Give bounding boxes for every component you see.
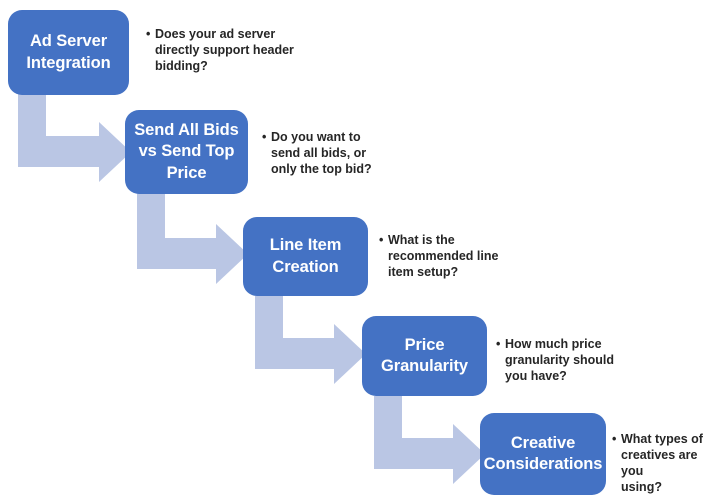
stage-label-line-item-creation: Line Item Creation xyxy=(270,235,342,278)
stage-label-ad-server-integration: Ad Server Integration xyxy=(26,31,110,74)
stage-box-send-all-bids-vs-send-top-price[interactable]: Send All Bids vs Send Top Price xyxy=(125,110,248,194)
connector-3-arrow xyxy=(255,296,366,384)
note-price-granularity: • How much price granularity should you … xyxy=(496,336,630,384)
stage-box-creative-considerations[interactable]: Creative Considerations xyxy=(480,413,606,495)
stage-box-price-granularity[interactable]: Price Granularity xyxy=(362,316,487,396)
stage-box-ad-server-integration[interactable]: Ad Server Integration xyxy=(8,10,129,95)
bullet-icon: • xyxy=(262,129,271,145)
stage-box-line-item-creation[interactable]: Line Item Creation xyxy=(243,217,368,296)
bullet-icon: • xyxy=(496,336,505,352)
connector-4-arrow xyxy=(374,396,485,484)
note-send-all-bids-vs-send-top-price: • Do you want to send all bids, or only … xyxy=(262,129,392,177)
stage-label-creative-considerations: Creative Considerations xyxy=(484,433,603,476)
note-text-line-item-creation: What is the recommended line item setup? xyxy=(388,232,513,280)
note-text-ad-server-integration: Does your ad server directly support hea… xyxy=(155,26,296,74)
note-line-item-creation: • What is the recommended line item setu… xyxy=(379,232,513,280)
stage-label-send-all-bids-vs-send-top-price: Send All Bids vs Send Top Price xyxy=(134,120,238,184)
stage-label-price-granularity: Price Granularity xyxy=(381,335,468,378)
connector-1-arrow xyxy=(18,94,131,182)
note-creative-considerations: • What types of creatives are you using? xyxy=(612,431,722,495)
note-ad-server-integration: • Does your ad server directly support h… xyxy=(146,26,296,74)
connector-2-arrow xyxy=(137,193,248,284)
note-text-price-granularity: How much price granularity should you ha… xyxy=(505,336,630,384)
flowchart-canvas: Ad Server Integration Send All Bids vs S… xyxy=(0,0,723,500)
bullet-icon: • xyxy=(612,431,621,447)
bullet-icon: • xyxy=(379,232,388,248)
note-text-send-all-bids-vs-send-top-price: Do you want to send all bids, or only th… xyxy=(271,129,392,177)
note-text-creative-considerations: What types of creatives are you using? xyxy=(621,431,722,495)
bullet-icon: • xyxy=(146,26,155,42)
